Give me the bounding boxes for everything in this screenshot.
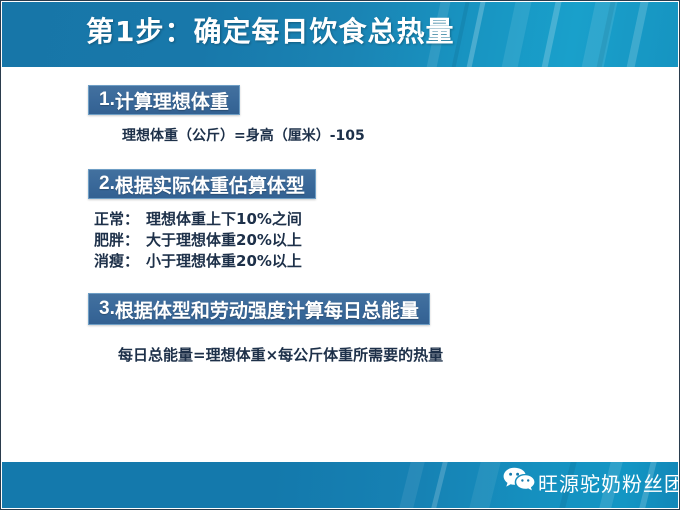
body-type-value-normal: 理想体重上下10%之间	[146, 210, 302, 228]
list-item: 正常：理想体重上下10%之间	[94, 209, 302, 230]
formula-daily-energy: 每日总能量=理想体重×每公斤体重所需要的热量	[118, 344, 443, 365]
footer-streak-decoration	[420, 462, 452, 508]
body-type-value-thin: 小于理想体重20%以上	[146, 252, 302, 270]
body-type-value-obese: 大于理想体重20%以上	[146, 231, 302, 249]
section-title-3: 根据体型和劳动强度计算每日总能量	[115, 296, 419, 323]
body-type-label-thin: 消瘦：	[94, 251, 146, 272]
footer-brand-text: 旺源驼奶粉丝团	[538, 468, 680, 497]
slide-canvas: 第1步：确定每日饮食总热量 1. 计算理想体重 理想体重（公斤）=身高（厘米）-…	[0, 0, 680, 510]
header-streak-decoration	[587, 2, 622, 67]
list-item: 消瘦：小于理想体重20%以上	[94, 251, 302, 272]
footer-streak-decoration	[388, 462, 429, 508]
formula-ideal-weight: 理想体重（公斤）=身高（厘米）-105	[122, 125, 365, 145]
header-streak-decoration	[572, 2, 624, 67]
header-streak-decoration	[492, 2, 538, 67]
section-heading-1: 1. 计算理想体重	[88, 85, 240, 115]
header-streak-decoration	[532, 2, 568, 67]
section-heading-2: 2. 根据实际体重估算体型	[88, 169, 316, 199]
body-type-label-normal: 正常：	[94, 209, 146, 230]
body-type-list: 正常：理想体重上下10%之间 肥胖：大于理想体重20%以上 消瘦：小于理想体重2…	[94, 209, 302, 272]
body-type-label-obese: 肥胖：	[94, 230, 146, 251]
section-number-3: 3.	[99, 298, 115, 320]
list-item: 肥胖：大于理想体重20%以上	[94, 230, 302, 251]
section-title-1: 计算理想体重	[115, 87, 229, 114]
header-streak-decoration	[457, 2, 492, 67]
slide-body: 1. 计算理想体重 理想体重（公斤）=身高（厘米）-105 2. 根据实际体重估…	[2, 67, 678, 462]
section-heading-3: 3. 根据体型和劳动强度计算每日总能量	[88, 293, 430, 325]
section-number-1: 1.	[99, 89, 115, 111]
header-streak-decoration	[617, 2, 655, 67]
section-number-2: 2.	[99, 173, 115, 195]
page-title: 第1步：确定每日饮食总热量	[86, 10, 454, 50]
section-title-2: 根据实际体重估算体型	[115, 171, 305, 198]
wechat-icon	[503, 467, 535, 493]
footer-streak-decoration	[458, 462, 505, 508]
